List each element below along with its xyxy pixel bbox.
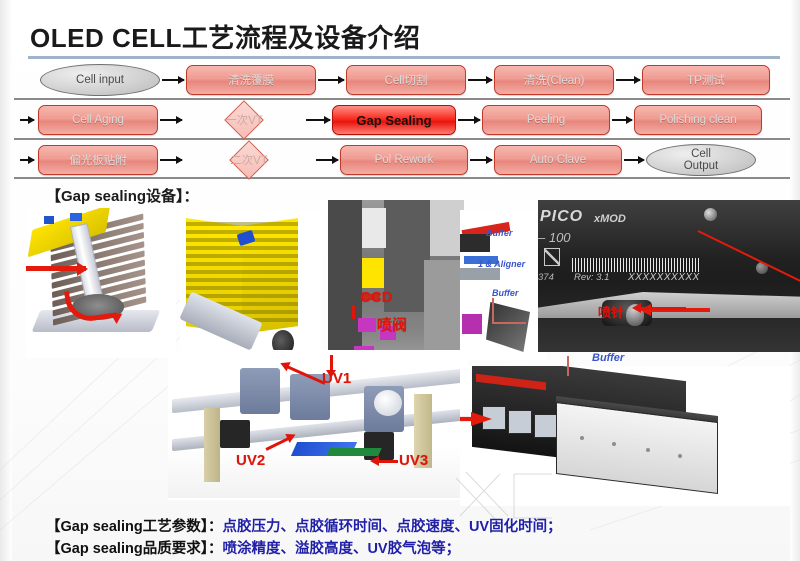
revision-label: Rev: 3.1 bbox=[574, 272, 609, 283]
flow-node-polishing-clean[interactable]: Polishing clean bbox=[634, 105, 762, 135]
title-divider bbox=[28, 56, 780, 59]
flow-node-label: 二次VT bbox=[230, 152, 268, 168]
flow-arrow bbox=[20, 159, 34, 161]
flow-node-gap-sealing[interactable]: Gap Sealing bbox=[332, 105, 456, 135]
machine-bolt bbox=[678, 454, 682, 458]
cad-render-uv-gantry bbox=[168, 350, 468, 500]
flow-node-label: Auto Clave bbox=[530, 154, 586, 166]
page-title: OLED CELL工艺流程及设备介绍 bbox=[30, 18, 420, 55]
flow-node-label: TP测试 bbox=[687, 72, 725, 88]
flow-node-label: Cell input bbox=[76, 74, 124, 86]
flow-node-clean-film[interactable]: 清洗覆膜 bbox=[186, 65, 316, 95]
flow-node-peeling[interactable]: Peeling bbox=[482, 105, 610, 135]
flow-node-clean[interactable]: 清洗(Clean) bbox=[494, 65, 614, 95]
leader-arrow-uv1-top bbox=[330, 355, 333, 371]
flow-node-label: 一次VT bbox=[225, 112, 263, 128]
cad-blue-part-2 bbox=[70, 213, 82, 221]
leader-line-buffer-1 bbox=[492, 298, 494, 324]
flow-node-tp-test[interactable]: TP测试 bbox=[642, 65, 770, 95]
flow-node-label: 清洗(Clean) bbox=[524, 72, 585, 88]
process-parameters-key: 【Gap sealing工艺参数】： bbox=[46, 519, 222, 535]
magenta-block bbox=[462, 314, 482, 334]
flow-row-2: Cell Aging 一次VT Gap Sealing Peeling Poli… bbox=[14, 102, 790, 138]
label-aligner: 1 & Aligner bbox=[478, 259, 525, 269]
flow-node-label-line2: Output bbox=[684, 160, 719, 172]
flow-node-label: 偏光板贴附 bbox=[69, 152, 127, 168]
photo-pico-xmod-panel: PICO xMOD – 100 374 Rev: 3.1 XXXXXXXXXX bbox=[538, 200, 800, 352]
leader-arrow-uv3 bbox=[378, 460, 398, 463]
flow-arrow bbox=[162, 79, 184, 81]
red-arrow-annotation bbox=[26, 266, 86, 271]
machine-bolt bbox=[580, 436, 584, 440]
green-pcb bbox=[326, 448, 382, 456]
flow-node-polarizer-attach[interactable]: 偏光板贴附 bbox=[38, 145, 158, 175]
slide-canvas: OLED CELL工艺流程及设备介绍 Cell input 清洗覆膜 Cell切… bbox=[0, 0, 800, 561]
barcode-icon bbox=[572, 258, 700, 272]
cad-render-yellow-cassette bbox=[180, 210, 322, 370]
process-flow-chart: Cell input 清洗覆膜 Cell切割 清洗(Clean) TP测试 C bbox=[14, 62, 790, 180]
cad-render-tilt-stacker bbox=[26, 208, 176, 358]
uv-lamp-lens bbox=[374, 390, 402, 416]
label-buffer-4: Buffer bbox=[592, 352, 624, 364]
flow-node-label: Pol Rework bbox=[375, 154, 434, 166]
flow-connector-rail-2 bbox=[14, 138, 790, 140]
machine-frame bbox=[424, 260, 464, 356]
process-parameters-line: 【Gap sealing工艺参数】：点胶压力、点胶循环时间、点胶速度、UV固化时… bbox=[46, 515, 562, 536]
model-number-label: – 100 bbox=[538, 230, 571, 245]
flow-node-label: Gap Sealing bbox=[356, 113, 431, 128]
machine-window-2 bbox=[508, 410, 532, 434]
code-label: 374 bbox=[538, 272, 554, 283]
flow-arrow bbox=[470, 159, 492, 161]
panel-edge bbox=[538, 292, 800, 318]
leader-line-buffer-vertical bbox=[567, 356, 569, 376]
flow-node-label: Polishing clean bbox=[659, 114, 736, 126]
flow-row-3: 偏光板贴附 二次VT Pol Rework Auto Clave Cell Ou… bbox=[14, 142, 790, 178]
annotation-needle: 喷针 bbox=[598, 302, 624, 321]
annotation-uv2: UV2 bbox=[236, 452, 265, 469]
flow-node-label: 清洗覆膜 bbox=[228, 72, 274, 88]
flow-node-label-line1: Cell bbox=[691, 148, 711, 160]
flow-arrow bbox=[20, 119, 34, 121]
process-parameters-value: 点胶压力、点胶循环时间、点胶速度、UV固化时间； bbox=[222, 519, 561, 535]
cad-blue-part bbox=[44, 216, 54, 224]
machine-bolt bbox=[612, 442, 616, 446]
flow-node-first-vt[interactable]: 一次VT bbox=[184, 103, 304, 137]
flow-node-cell-aging[interactable]: Cell Aging bbox=[38, 105, 158, 135]
flow-arrow bbox=[458, 119, 480, 121]
yellow-fixture bbox=[362, 258, 384, 288]
flow-row-1: Cell input 清洗覆膜 Cell切割 清洗(Clean) TP测试 bbox=[14, 62, 790, 98]
flow-node-label: Peeling bbox=[527, 114, 565, 126]
flow-arrow bbox=[468, 79, 492, 81]
gray-plate bbox=[460, 268, 500, 280]
flow-node-cell-output[interactable]: Cell Output bbox=[646, 144, 756, 176]
flow-arrow bbox=[316, 159, 338, 161]
flow-arrow bbox=[616, 79, 640, 81]
flow-arrow bbox=[318, 79, 344, 81]
flow-connector-rail-1 bbox=[14, 98, 790, 100]
serial-label: XXXXXXXXXX bbox=[628, 272, 700, 283]
flow-arrow bbox=[160, 159, 182, 161]
flow-arrow bbox=[612, 119, 632, 121]
quality-requirements-value: 喷涂精度、溢胶高度、UV胶气泡等； bbox=[222, 541, 460, 557]
flow-node-pol-rework[interactable]: Pol Rework bbox=[340, 145, 468, 175]
flow-node-cell-input[interactable]: Cell input bbox=[40, 64, 160, 96]
flow-node-cell-cutting[interactable]: Cell切割 bbox=[346, 65, 466, 95]
leader-arrow-needle bbox=[640, 307, 686, 310]
annotation-spray-valve: 喷阀 bbox=[377, 314, 407, 335]
screw-icon-2 bbox=[704, 208, 717, 221]
flow-arrow bbox=[160, 119, 182, 121]
pico-brand-label: PICO bbox=[540, 208, 583, 226]
annotation-uv3: UV3 bbox=[399, 452, 428, 469]
leader-line-buffer-2 bbox=[492, 322, 526, 324]
xmod-model-label: xMOD bbox=[594, 213, 626, 225]
flow-node-label: Cell Aging bbox=[72, 114, 124, 126]
gantry-leg-left bbox=[204, 408, 220, 482]
label-buffer-1: Buffer bbox=[486, 228, 512, 238]
quality-requirements-key: 【Gap sealing品质要求】： bbox=[46, 541, 222, 557]
annotation-ccd: CCD bbox=[360, 289, 393, 306]
flow-node-label: Cell切割 bbox=[385, 72, 428, 88]
flow-node-auto-clave[interactable]: Auto Clave bbox=[494, 145, 622, 175]
label-buffer-3: Buffer bbox=[492, 288, 518, 298]
uv-lamp-housing-1 bbox=[220, 420, 250, 448]
quality-requirements-line: 【Gap sealing品质要求】：喷涂精度、溢胶高度、UV胶气泡等； bbox=[46, 537, 460, 558]
flow-arrow bbox=[624, 159, 644, 161]
uv-carriage-1 bbox=[240, 368, 280, 414]
machine-bolt bbox=[646, 448, 650, 452]
flow-arrow bbox=[306, 119, 330, 121]
flow-node-second-vt[interactable]: 二次VT bbox=[184, 143, 314, 177]
machine-window-3 bbox=[534, 414, 558, 438]
machine-white-block bbox=[362, 208, 386, 248]
machine-white-block-2 bbox=[430, 200, 464, 256]
magenta-part bbox=[358, 318, 376, 332]
leader-line-ccd bbox=[352, 305, 355, 319]
no-stack-icon bbox=[544, 248, 560, 266]
